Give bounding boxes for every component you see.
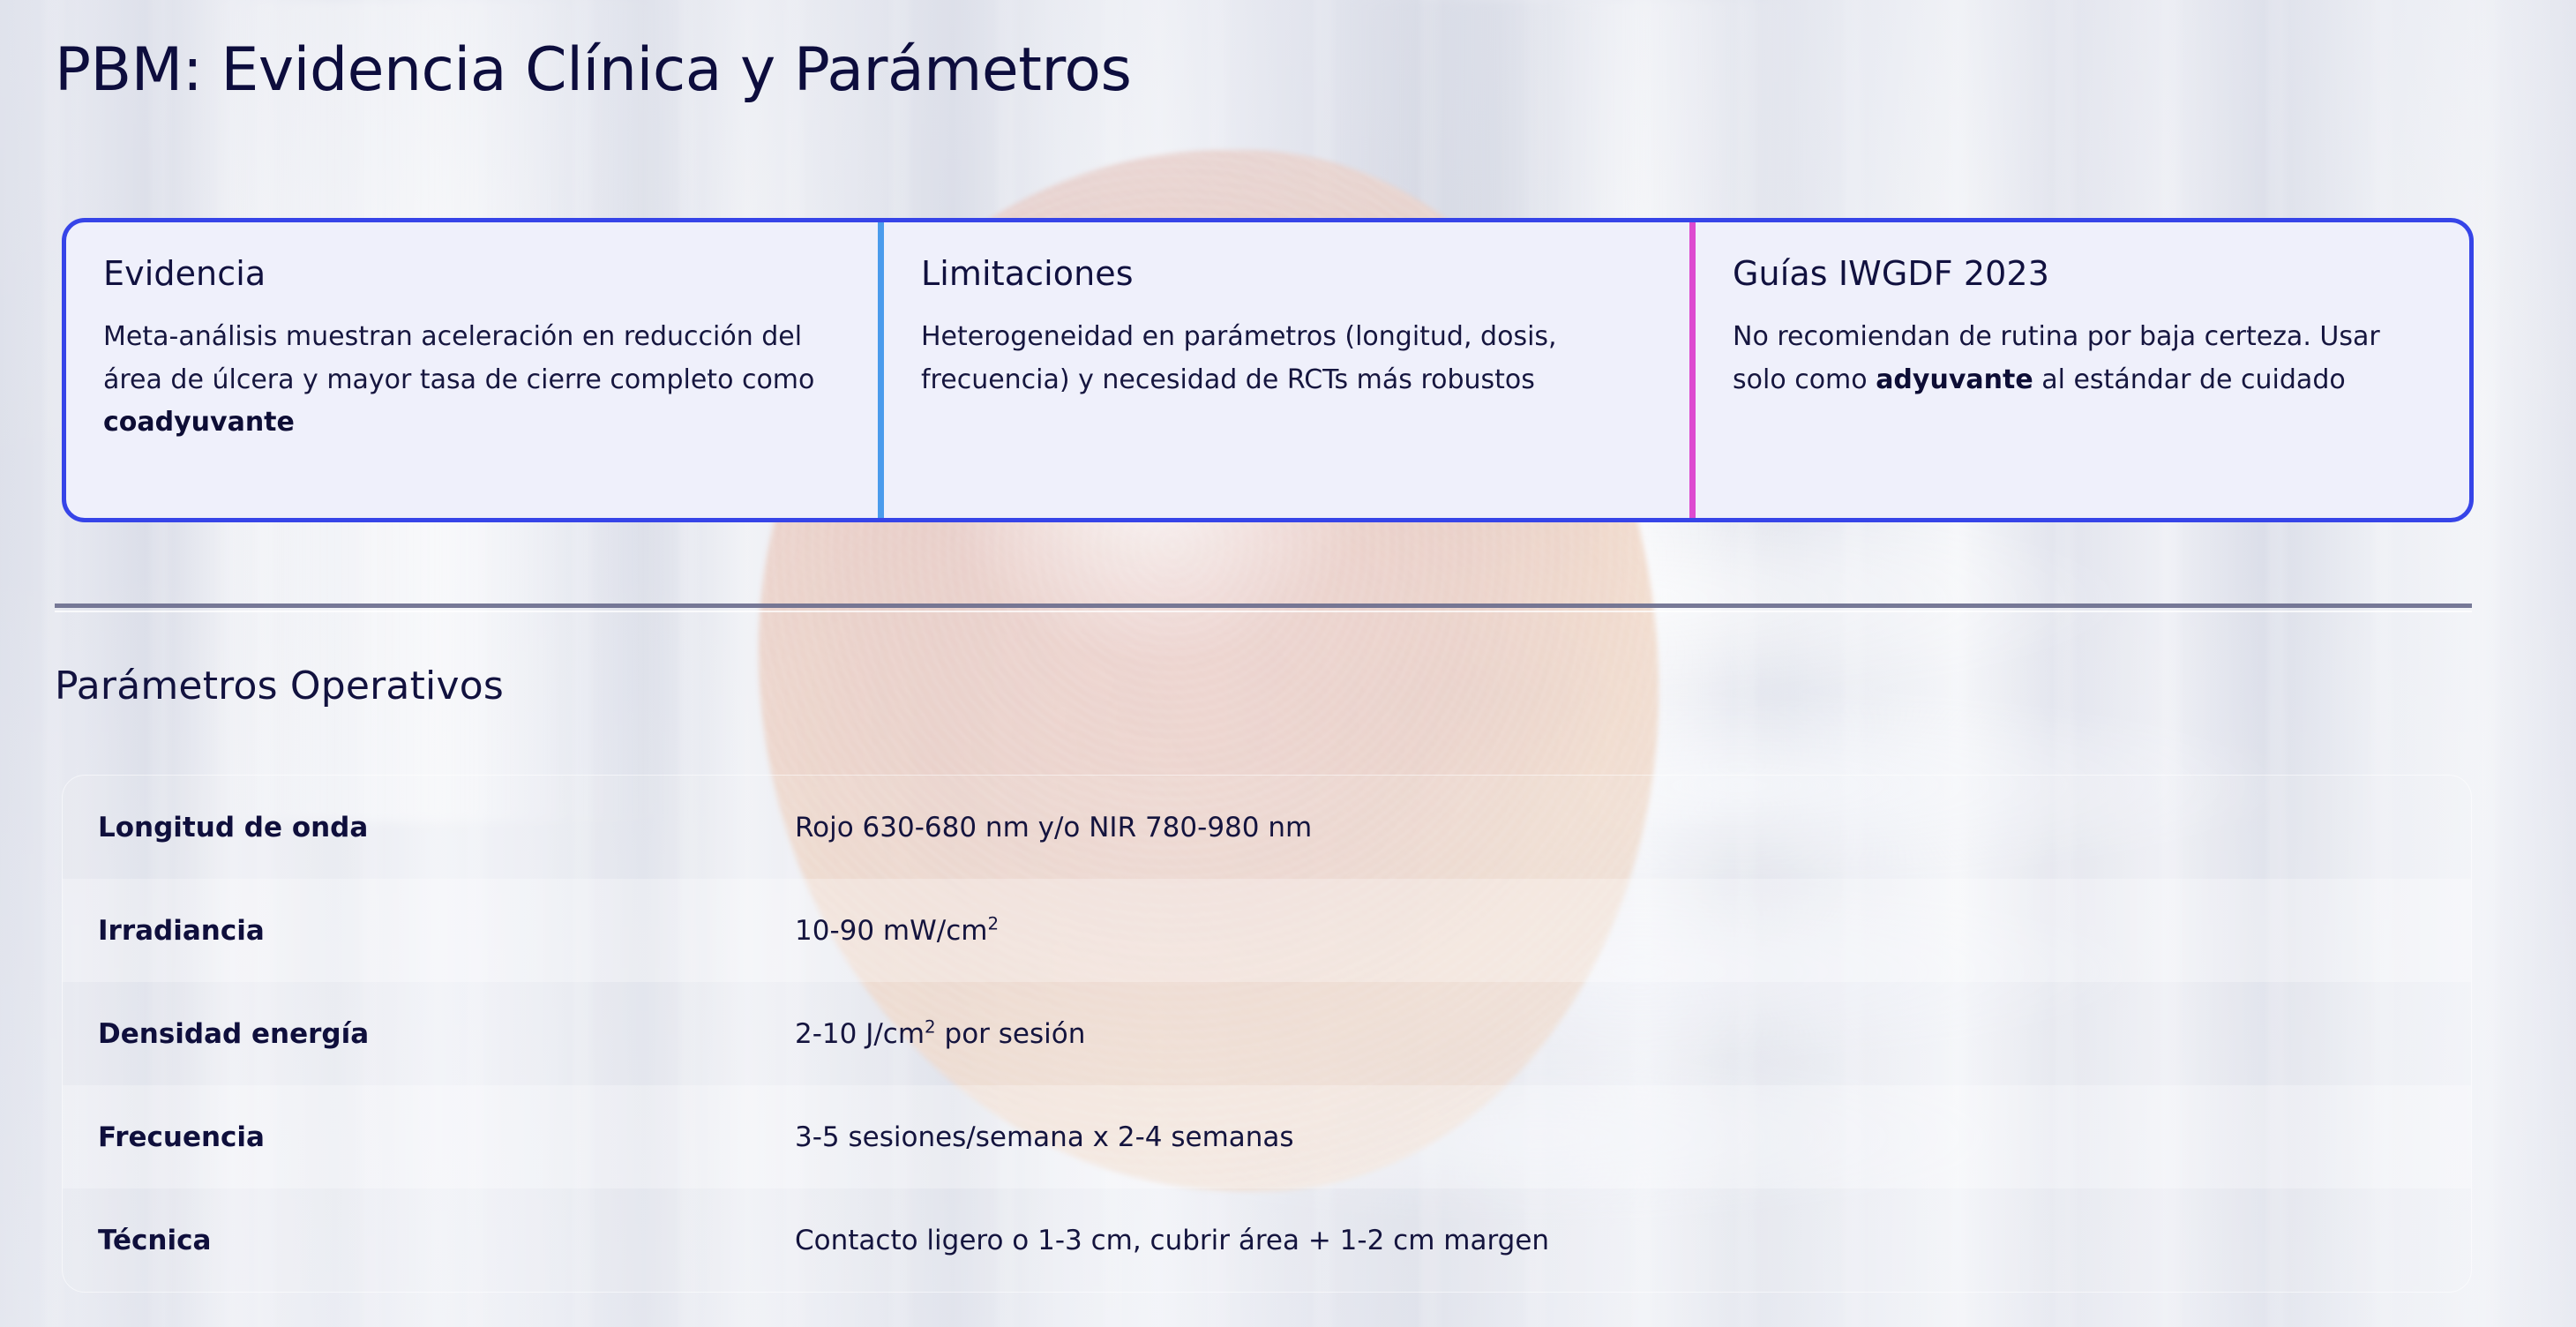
param-key-densidad-energia: Densidad energía — [63, 1018, 795, 1050]
param-value-text: 3-5 sesiones/semana x 2-4 semanas — [795, 1121, 1294, 1153]
evidence-cards-inner: Evidencia Meta-análisis muestran acelera… — [62, 218, 2474, 522]
section-title-parametros-operativos: Parámetros Operativos — [55, 663, 504, 708]
param-key-frecuencia: Frecuencia — [63, 1121, 795, 1153]
table-row: Técnica Contacto ligero o 1-3 cm, cubrir… — [63, 1188, 2471, 1292]
param-value-superscript: 2 — [925, 1016, 936, 1037]
card-evidencia-body: Meta-análisis muestran aceleración en re… — [103, 316, 842, 445]
card-guias-iwgdf-body-post: al estándar de cuidado — [2033, 364, 2346, 395]
card-limitaciones-body: Heterogeneidad en parámetros (longitud, … — [921, 316, 1654, 401]
param-value-frecuencia: 3-5 sesiones/semana x 2-4 semanas — [795, 1121, 2471, 1153]
param-key-longitud-de-onda: Longitud de onda — [63, 812, 795, 843]
param-value-text: Contacto ligero o 1-3 cm, cubrir área + … — [795, 1225, 1549, 1256]
card-evidencia-title: Evidencia — [103, 254, 842, 293]
card-evidencia-body-pre: Meta-análisis muestran aceleración en re… — [103, 321, 814, 395]
table-row: Longitud de onda Rojo 630-680 nm y/o NIR… — [63, 776, 2471, 879]
evidence-cards-strip: Evidencia Meta-análisis muestran acelera… — [62, 218, 2474, 306]
param-key-tecnica: Técnica — [63, 1225, 795, 1256]
section-divider — [55, 604, 2472, 608]
param-value-longitud-de-onda: Rojo 630-680 nm y/o NIR 780-980 nm — [795, 812, 2471, 843]
page-title: PBM: Evidencia Clínica y Parámetros — [55, 35, 1131, 105]
param-value-irradiancia: 10-90 mW/cm2 — [795, 915, 2471, 947]
card-guias-iwgdf-title: Guías IWGDF 2023 — [1733, 254, 2434, 293]
param-value-text: 2-10 J/cm — [795, 1018, 925, 1050]
param-value-tail: por sesión — [936, 1018, 1086, 1050]
param-value-text: 10-90 mW/cm — [795, 915, 987, 947]
card-guias-iwgdf-body-bold: adyuvante — [1876, 364, 2033, 395]
param-key-irradiancia: Irradiancia — [63, 915, 795, 947]
card-limitaciones-body-pre: Heterogeneidad en parámetros (longitud, … — [921, 321, 1557, 395]
table-row: Frecuencia 3-5 sesiones/semana x 2-4 sem… — [63, 1085, 2471, 1188]
parameters-table: Longitud de onda Rojo 630-680 nm y/o NIR… — [62, 775, 2472, 1293]
card-evidencia-body-bold: coadyuvante — [103, 407, 295, 438]
card-evidencia: Evidencia Meta-análisis muestran acelera… — [66, 222, 878, 518]
card-guias-iwgdf-body: No recomiendan de rutina por baja certez… — [1733, 316, 2434, 401]
card-guias-iwgdf: Guías IWGDF 2023 No recomiendan de rutin… — [1689, 222, 2469, 518]
param-value-densidad-energia: 2-10 J/cm2 por sesión — [795, 1018, 2471, 1050]
section-divider-highlight — [55, 611, 2472, 612]
slide-content: PBM: Evidencia Clínica y Parámetros Evid… — [0, 0, 2576, 1327]
slide-root: PBM: Evidencia Clínica y Parámetros Evid… — [0, 0, 2576, 1327]
param-value-superscript: 2 — [987, 913, 999, 933]
card-limitaciones: Limitaciones Heterogeneidad en parámetro… — [878, 222, 1689, 518]
param-value-tecnica: Contacto ligero o 1-3 cm, cubrir área + … — [795, 1225, 2471, 1256]
table-row: Densidad energía 2-10 J/cm2 por sesión — [63, 982, 2471, 1085]
param-value-text: Rojo 630-680 nm y/o NIR 780-980 nm — [795, 812, 1312, 843]
table-row: Irradiancia 10-90 mW/cm2 — [63, 879, 2471, 982]
card-limitaciones-title: Limitaciones — [921, 254, 1654, 293]
